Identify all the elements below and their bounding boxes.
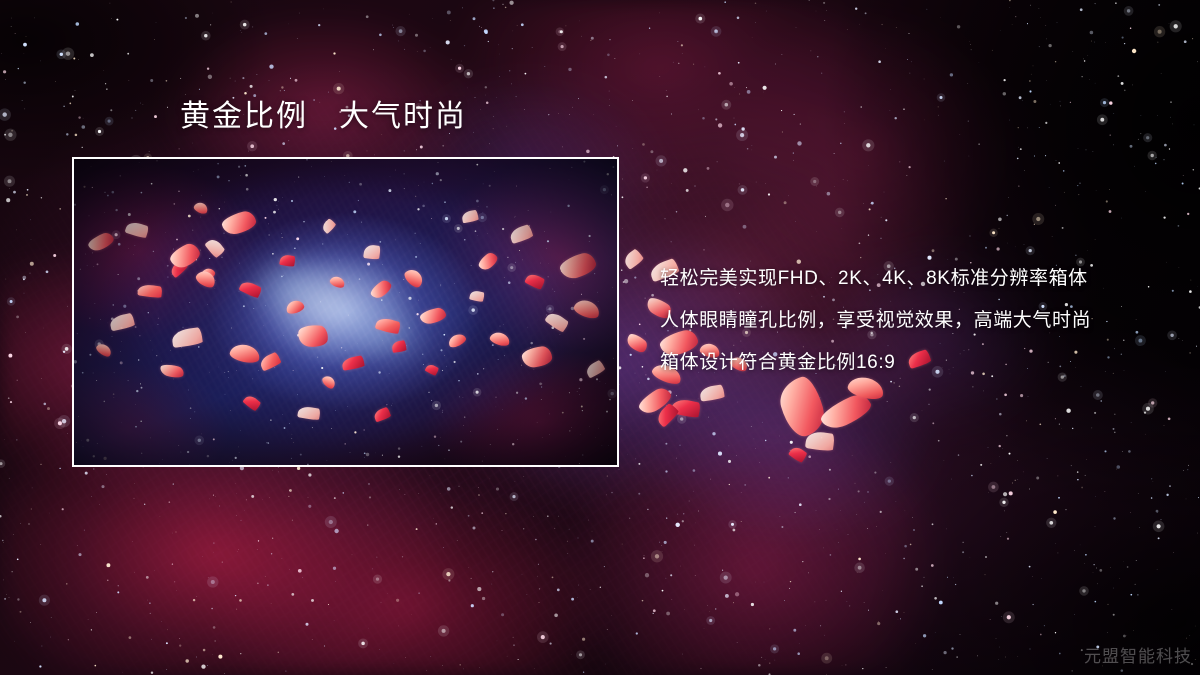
body-copy: 轻松完美实现FHD、2K、4K、8K标准分辨率箱体 人体眼睛瞳孔比例，享受视觉效… xyxy=(660,258,1190,384)
rose-petal xyxy=(159,362,185,379)
rose-petal xyxy=(242,393,261,412)
rose-petal xyxy=(508,224,533,244)
rose-petal xyxy=(425,363,440,377)
rose-petal xyxy=(363,244,381,260)
rose-petal xyxy=(204,236,225,258)
rose-petal xyxy=(469,289,485,302)
rose-petal xyxy=(368,278,394,301)
rose-petal xyxy=(373,407,392,423)
rose-petal xyxy=(285,299,306,316)
picture-vignette xyxy=(74,159,617,465)
rose-petal xyxy=(375,316,402,335)
rose-petal xyxy=(109,313,135,332)
rose-petal xyxy=(137,283,162,298)
rose-petal xyxy=(524,271,546,290)
body-copy-line-2: 人体眼睛瞳孔比例，享受视觉效果，高端大气时尚 xyxy=(660,300,1190,342)
picture-nebula-core xyxy=(74,159,617,465)
rose-petal xyxy=(279,254,296,267)
rose-petal xyxy=(86,231,115,254)
rose-petal xyxy=(624,331,650,356)
rose-petal xyxy=(320,218,336,234)
rose-petal xyxy=(168,259,188,278)
rose-petal xyxy=(521,345,553,368)
rose-petal xyxy=(476,250,500,272)
rose-petal xyxy=(805,430,835,452)
rose-petal xyxy=(329,275,347,290)
rose-petal xyxy=(544,310,569,333)
rose-petal xyxy=(229,342,262,365)
rose-petal xyxy=(584,359,606,378)
rose-petal xyxy=(297,323,329,348)
rose-petal xyxy=(125,220,150,239)
rose-petal xyxy=(817,390,874,433)
rose-petal xyxy=(654,402,680,427)
rose-petal xyxy=(446,332,467,350)
rose-petal xyxy=(572,297,602,321)
rose-petal xyxy=(297,405,321,421)
picture-petal-group xyxy=(74,159,617,465)
rose-petal xyxy=(198,266,216,283)
rose-petal xyxy=(636,385,674,418)
rose-petal xyxy=(558,250,599,281)
rose-petal xyxy=(320,374,337,391)
rose-petal xyxy=(258,351,282,371)
watermark: 元盟智能科技 xyxy=(1084,642,1192,667)
page-title: 黄金比例 大气时尚 xyxy=(180,102,467,132)
slide-canvas: 黄金比例 大气时尚 轻松完美实现FHD、2K、4K、8K标准分辨率箱体 人体眼睛… xyxy=(0,0,1200,675)
body-copy-line-1: 轻松完美实现FHD、2K、4K、8K标准分辨率箱体 xyxy=(660,258,1190,300)
rose-petal xyxy=(341,355,365,371)
picture-starfield xyxy=(74,159,617,465)
picture-nebula-wisps xyxy=(74,159,617,465)
body-copy-line-3: 箱体设计符合黄金比例16:9 xyxy=(660,342,1190,384)
rose-petal xyxy=(622,248,645,270)
rose-petal xyxy=(402,266,426,290)
rose-petal xyxy=(419,306,447,325)
rose-petal xyxy=(489,330,512,348)
rose-petal xyxy=(391,340,406,353)
rose-petal xyxy=(699,384,725,401)
picture-nebula-base xyxy=(74,159,617,465)
rose-petal xyxy=(461,210,479,224)
rose-petal xyxy=(238,279,262,299)
rose-petal xyxy=(788,444,808,463)
rose-petal xyxy=(671,397,702,418)
framed-image xyxy=(72,157,619,467)
rose-petal xyxy=(220,209,258,237)
rose-petal xyxy=(171,327,203,348)
rose-petal xyxy=(95,341,114,358)
rose-petal xyxy=(193,201,210,216)
